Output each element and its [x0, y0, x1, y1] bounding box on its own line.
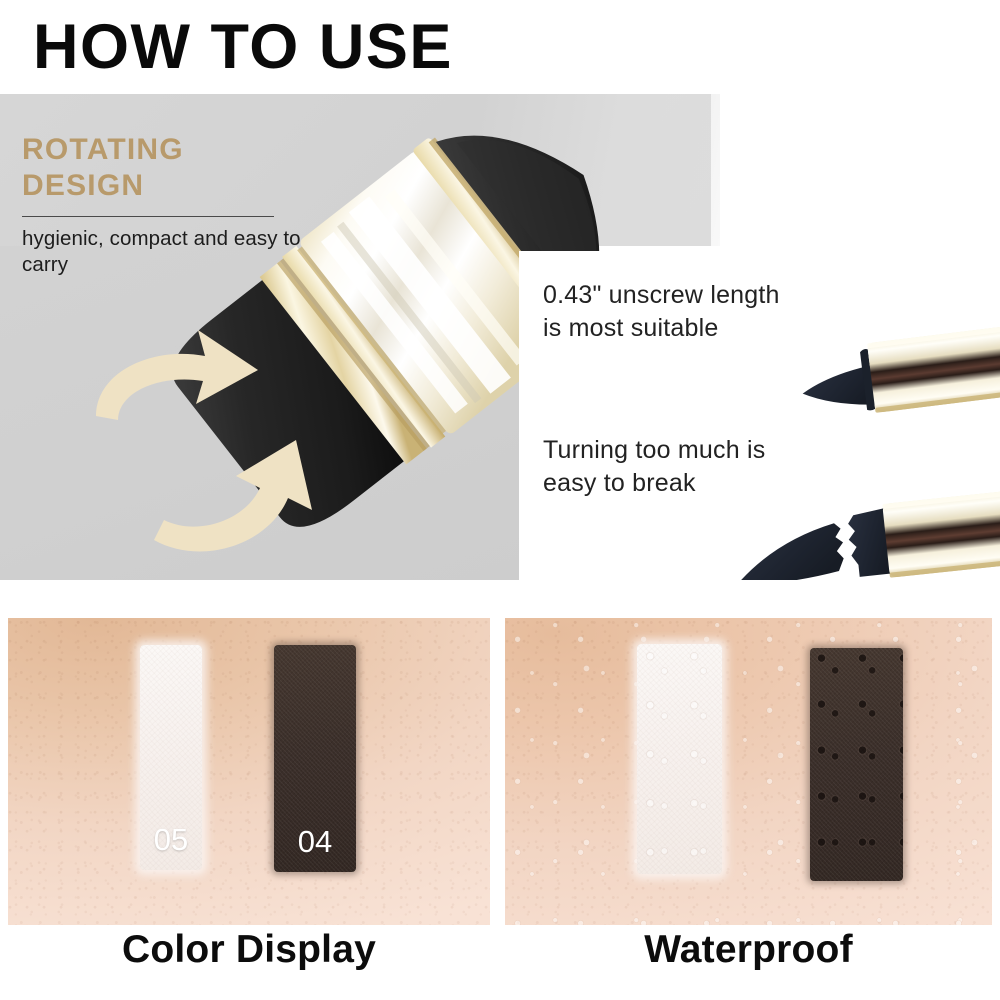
infographic-root: HOW TO USE ROTATING DESIGN hygienic, com…	[0, 0, 1000, 1000]
swatch-light-waterproof	[637, 644, 722, 874]
caption-waterproof: Waterproof	[505, 928, 992, 972]
swatch-panel-waterproof	[505, 618, 992, 925]
swatch-dark-04: 04	[274, 645, 356, 872]
header-bar: HOW TO USE	[0, 0, 1000, 94]
hero-section: ROTATING DESIGN hygienic, compact and ea…	[0, 94, 1000, 580]
caption-color-display: Color Display	[8, 928, 490, 972]
swatch-label-05: 05	[140, 822, 202, 858]
swatch-dark-waterproof	[810, 648, 903, 881]
tip-text-unscrew-length: 0.43" unscrew length is most suitable	[543, 279, 780, 345]
page-title: HOW TO USE	[33, 14, 453, 80]
swatch-panel-color-display: 05 04	[8, 618, 490, 925]
product-pen-intact	[774, 306, 1000, 426]
swatch-label-04: 04	[274, 824, 356, 860]
swatch-droplets	[637, 644, 722, 874]
tips-panel: 0.43" unscrew length is most suitable Tu…	[519, 251, 1000, 580]
skin-texture	[8, 618, 490, 925]
swatch-light-05: 05	[140, 645, 202, 870]
water-droplets	[505, 618, 992, 925]
product-pen-broken	[714, 476, 1000, 580]
swatch-section: 05 04 Color Display Waterproof	[0, 580, 1000, 1000]
swatch-droplets	[810, 648, 903, 881]
pen-tip-fragment	[731, 523, 847, 580]
